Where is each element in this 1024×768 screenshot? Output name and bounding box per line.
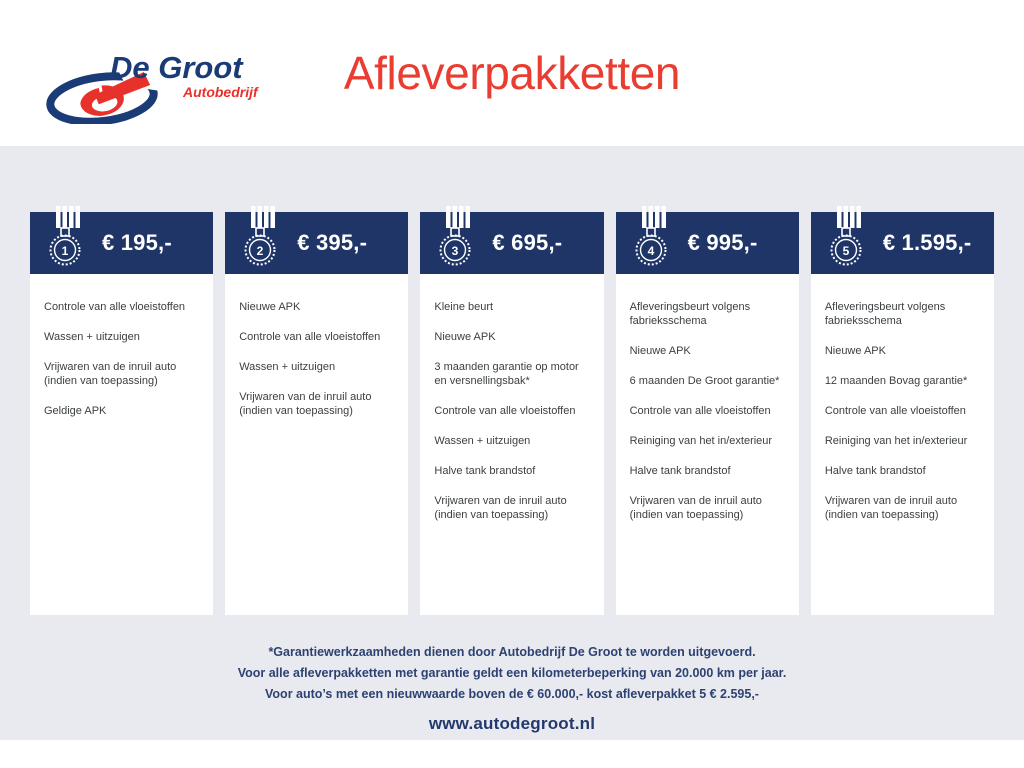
package-card-3[interactable]: 3 € 695,- Kleine beurt Nieuwe APK 3 maan… bbox=[420, 212, 603, 615]
disclaimer-line: Voor auto’s met een nieuwwaarde boven de… bbox=[0, 684, 1024, 705]
website-link[interactable]: www.autodegroot.nl bbox=[0, 714, 1024, 734]
feature-item: Controle van alle vloeistoffen bbox=[44, 300, 199, 314]
package-cards: 1 € 195,- Controle van alle vloeistoffen… bbox=[30, 212, 994, 615]
medal-ribbon-icon: 3 bbox=[434, 206, 478, 268]
feature-item: Controle van alle vloeistoffen bbox=[825, 404, 980, 418]
body-band: 1 € 195,- Controle van alle vloeistoffen… bbox=[0, 146, 1024, 740]
afleverpakketten-poster: De Groot Autobedrijf Afleverpakketten bbox=[0, 0, 1024, 768]
page-title: Afleverpakketten bbox=[0, 46, 1024, 100]
package-header-1: 1 € 195,- bbox=[30, 212, 213, 274]
feature-item: Nieuwe APK bbox=[630, 344, 785, 358]
feature-item: Vrijwaren van de inruil auto (indien van… bbox=[434, 494, 589, 522]
package-header-5: 5 € 1.595,- bbox=[811, 212, 994, 274]
feature-item: 12 maanden Bovag garantie* bbox=[825, 374, 980, 388]
feature-item: Vrijwaren van de inruil auto (indien van… bbox=[630, 494, 785, 522]
medal-rank-4: 4 bbox=[647, 244, 654, 258]
feature-item: Vrijwaren van de inruil auto (indien van… bbox=[239, 390, 394, 418]
feature-item: 6 maanden De Groot garantie* bbox=[630, 374, 785, 388]
feature-item: Wassen + uitzuigen bbox=[434, 434, 589, 448]
feature-item: Nieuwe APK bbox=[434, 330, 589, 344]
package-price-3: € 695,- bbox=[492, 230, 562, 256]
feature-item: Geldige APK bbox=[44, 404, 199, 418]
package-price-5: € 1.595,- bbox=[883, 230, 972, 256]
package-card-2[interactable]: 2 € 395,- Nieuwe APK Controle van alle v… bbox=[225, 212, 408, 615]
package-features-5: Afleveringsbeurt volgens fabrieksschema … bbox=[811, 274, 994, 615]
medal-ribbon-icon: 1 bbox=[44, 206, 88, 268]
feature-item: Kleine beurt bbox=[434, 300, 589, 314]
package-features-4: Afleveringsbeurt volgens fabrieksschema … bbox=[616, 274, 799, 615]
feature-item: Wassen + uitzuigen bbox=[44, 330, 199, 344]
package-price-1: € 195,- bbox=[102, 230, 172, 256]
package-card-1[interactable]: 1 € 195,- Controle van alle vloeistoffen… bbox=[30, 212, 213, 615]
feature-item: 3 maanden garantie op motor en versnelli… bbox=[434, 360, 589, 388]
feature-item: Afleveringsbeurt volgens fabrieksschema bbox=[630, 300, 785, 328]
feature-item: Nieuwe APK bbox=[825, 344, 980, 358]
disclaimer: *Garantiewerkzaamheden dienen door Autob… bbox=[0, 642, 1024, 705]
package-header-4: 4 € 995,- bbox=[616, 212, 799, 274]
feature-item: Afleveringsbeurt volgens fabrieksschema bbox=[825, 300, 980, 328]
feature-item: Controle van alle vloeistoffen bbox=[239, 330, 394, 344]
medal-ribbon-icon: 4 bbox=[630, 206, 674, 268]
medal-rank-3: 3 bbox=[452, 244, 459, 258]
footer-band bbox=[0, 740, 1024, 768]
medal-rank-1: 1 bbox=[62, 244, 69, 258]
feature-item: Halve tank brandstof bbox=[825, 464, 980, 478]
feature-item: Reiniging van het in/exterieur bbox=[825, 434, 980, 448]
package-header-2: 2 € 395,- bbox=[225, 212, 408, 274]
medal-rank-5: 5 bbox=[842, 244, 849, 258]
feature-item: Halve tank brandstof bbox=[630, 464, 785, 478]
package-card-5[interactable]: 5 € 1.595,- Afleveringsbeurt volgens fab… bbox=[811, 212, 994, 615]
package-price-2: € 395,- bbox=[297, 230, 367, 256]
feature-item: Controle van alle vloeistoffen bbox=[630, 404, 785, 418]
feature-item: Wassen + uitzuigen bbox=[239, 360, 394, 374]
feature-item: Nieuwe APK bbox=[239, 300, 394, 314]
disclaimer-line: Voor alle afleverpakketten met garantie … bbox=[0, 663, 1024, 684]
medal-ribbon-icon: 2 bbox=[239, 206, 283, 268]
disclaimer-line: *Garantiewerkzaamheden dienen door Autob… bbox=[0, 642, 1024, 663]
package-features-1: Controle van alle vloeistoffen Wassen + … bbox=[30, 274, 213, 615]
feature-item: Controle van alle vloeistoffen bbox=[434, 404, 589, 418]
medal-ribbon-icon: 5 bbox=[825, 206, 869, 268]
feature-item: Reiniging van het in/exterieur bbox=[630, 434, 785, 448]
medal-rank-2: 2 bbox=[257, 244, 264, 258]
feature-item: Vrijwaren van de inruil auto (indien van… bbox=[44, 360, 199, 388]
package-card-4[interactable]: 4 € 995,- Afleveringsbeurt volgens fabri… bbox=[616, 212, 799, 615]
package-features-2: Nieuwe APK Controle van alle vloeistoffe… bbox=[225, 274, 408, 615]
feature-item: Vrijwaren van de inruil auto (indien van… bbox=[825, 494, 980, 522]
package-header-3: 3 € 695,- bbox=[420, 212, 603, 274]
feature-item: Halve tank brandstof bbox=[434, 464, 589, 478]
package-features-3: Kleine beurt Nieuwe APK 3 maanden garant… bbox=[420, 274, 603, 615]
package-price-4: € 995,- bbox=[688, 230, 758, 256]
